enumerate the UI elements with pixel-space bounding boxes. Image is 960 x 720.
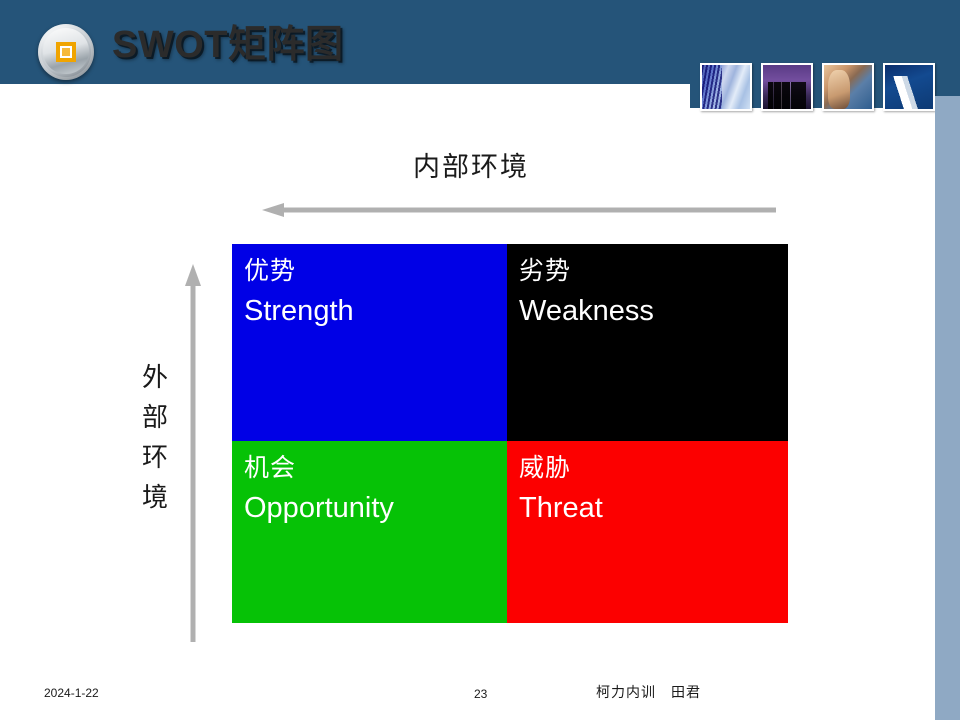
swot-quadrant-strength[interactable]: 优势 Strength <box>232 244 507 441</box>
swot-quadrant-weakness[interactable]: 劣势 Weakness <box>507 244 788 441</box>
external-env-char-2: 部 <box>138 398 172 438</box>
swot-quadrant-opportunity[interactable]: 机会 Opportunity <box>232 441 507 623</box>
slide-canvas: SWOT矩阵图 内部环境 外 部 环 境 优势 Strength 劣势 Weak… <box>0 0 960 720</box>
person-on-phone-photo <box>822 63 874 111</box>
logo-inner-square <box>56 42 76 62</box>
right-accent-bar <box>935 96 960 720</box>
external-env-char-1: 外 <box>138 358 172 398</box>
header-band-notch <box>935 84 960 96</box>
footer-page-number: 23 <box>474 687 487 701</box>
header-photo-strip <box>700 63 935 111</box>
external-env-char-4: 境 <box>138 478 172 518</box>
quadrant-label-en: Opportunity <box>244 491 507 525</box>
glass-office-building-photo <box>700 63 752 111</box>
page-title: SWOT矩阵图 <box>112 22 343 68</box>
quadrant-label-en: Strength <box>244 294 507 328</box>
external-environment-label: 外 部 环 境 <box>138 358 172 518</box>
quadrant-label-cn: 优势 <box>244 256 507 288</box>
city-skyline-night-photo <box>761 63 813 111</box>
swot-matrix: 优势 Strength 劣势 Weakness 机会 Opportunity 威… <box>232 244 788 623</box>
quadrant-label-en: Weakness <box>519 294 788 328</box>
internal-environment-label: 内部环境 <box>413 145 529 184</box>
swot-quadrant-threat[interactable]: 威胁 Threat <box>507 441 788 623</box>
external-env-char-3: 环 <box>138 438 172 478</box>
internal-environment-arrow <box>258 203 778 217</box>
square-badge-icon <box>38 24 94 80</box>
footer-credit: 柯力内训 田君 <box>596 682 701 702</box>
footer-date: 2024-1-22 <box>44 686 99 700</box>
external-environment-arrow <box>185 262 201 644</box>
quadrant-label-cn: 劣势 <box>519 256 788 288</box>
quadrant-label-en: Threat <box>519 491 788 525</box>
quadrant-label-cn: 威胁 <box>519 453 788 485</box>
white-building-sky-photo <box>883 63 935 111</box>
quadrant-label-cn: 机会 <box>244 453 507 485</box>
